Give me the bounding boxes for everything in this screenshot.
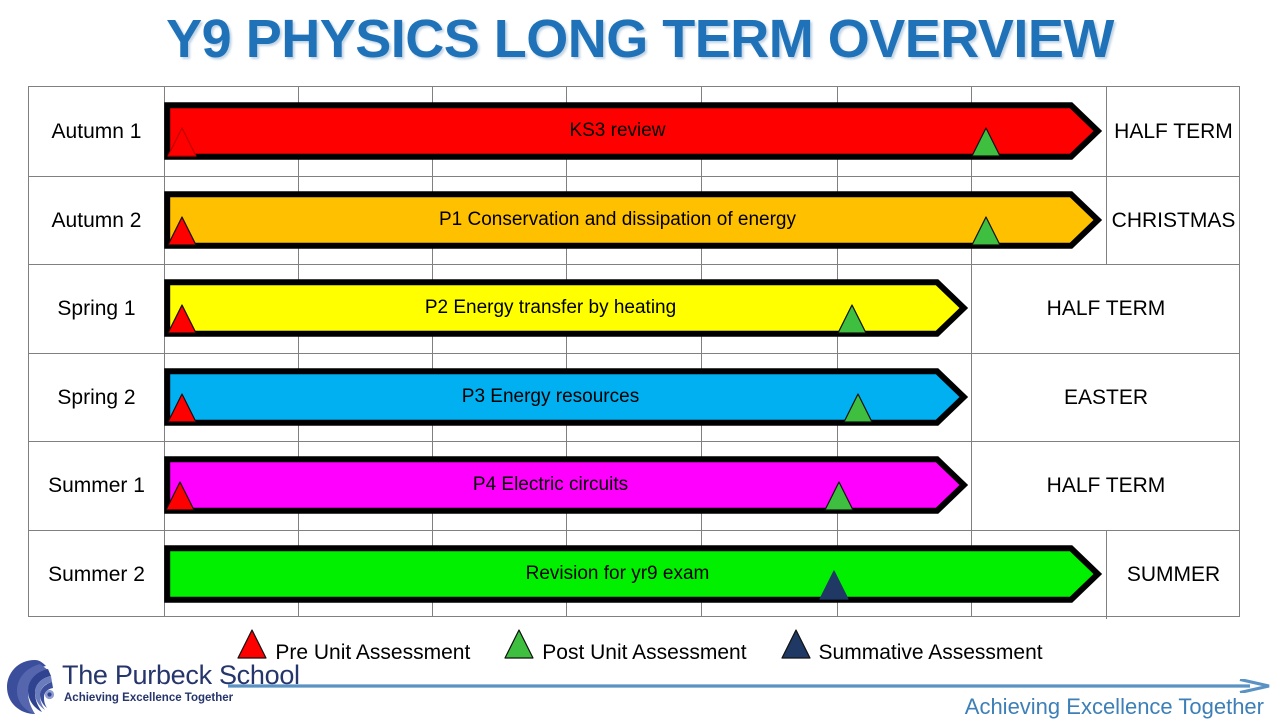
term-label: Summer 2 [29, 530, 164, 619]
pre-unit-assessment-marker-icon [167, 304, 197, 334]
grid-row-divider [29, 176, 1239, 177]
arrow-rule-icon [228, 679, 1272, 693]
summative-assessment-marker-icon [819, 570, 849, 600]
legend-item: Summative Assessment [781, 629, 1043, 664]
holiday-break-label: EASTER [971, 353, 1241, 442]
legend-triangle-icon [781, 629, 811, 664]
pre-unit-assessment-marker-icon [167, 216, 197, 246]
holiday-break-label: SUMMER [1106, 530, 1241, 619]
footer: The Purbeck School Achieving Excellence … [0, 660, 1280, 720]
term-label: Spring 1 [29, 264, 164, 353]
holiday-break-label: CHRISTMAS [1106, 176, 1241, 265]
unit-arrow-bar[interactable]: KS3 review [164, 102, 1101, 160]
legend-item: Post Unit Assessment [504, 629, 746, 664]
school-logo-tagline: Achieving Excellence Together [64, 692, 233, 704]
post-unit-assessment-marker-icon [837, 304, 867, 334]
holiday-break-label: HALF TERM [971, 441, 1241, 530]
pre-unit-assessment-marker-icon [167, 127, 197, 157]
unit-arrow-bar[interactable]: P1 Conservation and dissipation of energ… [164, 191, 1101, 249]
legend-item: Pre Unit Assessment [237, 629, 470, 664]
post-unit-assessment-marker-icon [971, 216, 1001, 246]
long-term-overview-table: Autumn 1HALF TERMKS3 reviewAutumn 2CHRIS… [28, 86, 1240, 617]
grid-column-divider [298, 87, 299, 616]
holiday-break-label: HALF TERM [1106, 87, 1241, 176]
grid-column-divider [701, 87, 702, 616]
grid-column-divider [164, 87, 165, 616]
pre-unit-assessment-marker-icon [165, 481, 195, 511]
post-unit-assessment-marker-icon [824, 481, 854, 511]
term-label: Summer 1 [29, 441, 164, 530]
unit-arrow-bar[interactable]: Revision for yr9 exam [164, 545, 1101, 603]
school-logo: The Purbeck School Achieving Excellence … [4, 656, 232, 718]
pre-unit-assessment-marker-icon [167, 393, 197, 423]
term-label: Autumn 2 [29, 176, 164, 265]
grid-row-divider [29, 530, 1239, 531]
holiday-break-label: HALF TERM [971, 264, 1241, 353]
term-label: Spring 2 [29, 353, 164, 442]
grid-column-divider [566, 87, 567, 616]
strapline: Achieving Excellence Together [965, 694, 1264, 720]
post-unit-assessment-marker-icon [843, 393, 873, 423]
page-title: Y9 PHYSICS LONG TERM OVERVIEW [0, 8, 1280, 70]
legend-triangle-icon [237, 629, 267, 664]
nautilus-shell-icon [4, 656, 66, 718]
post-unit-assessment-marker-icon [971, 127, 1001, 157]
term-label: Autumn 1 [29, 87, 164, 176]
legend-triangle-icon [504, 629, 534, 664]
grid-column-divider [432, 87, 433, 616]
grid-column-divider [837, 87, 838, 616]
